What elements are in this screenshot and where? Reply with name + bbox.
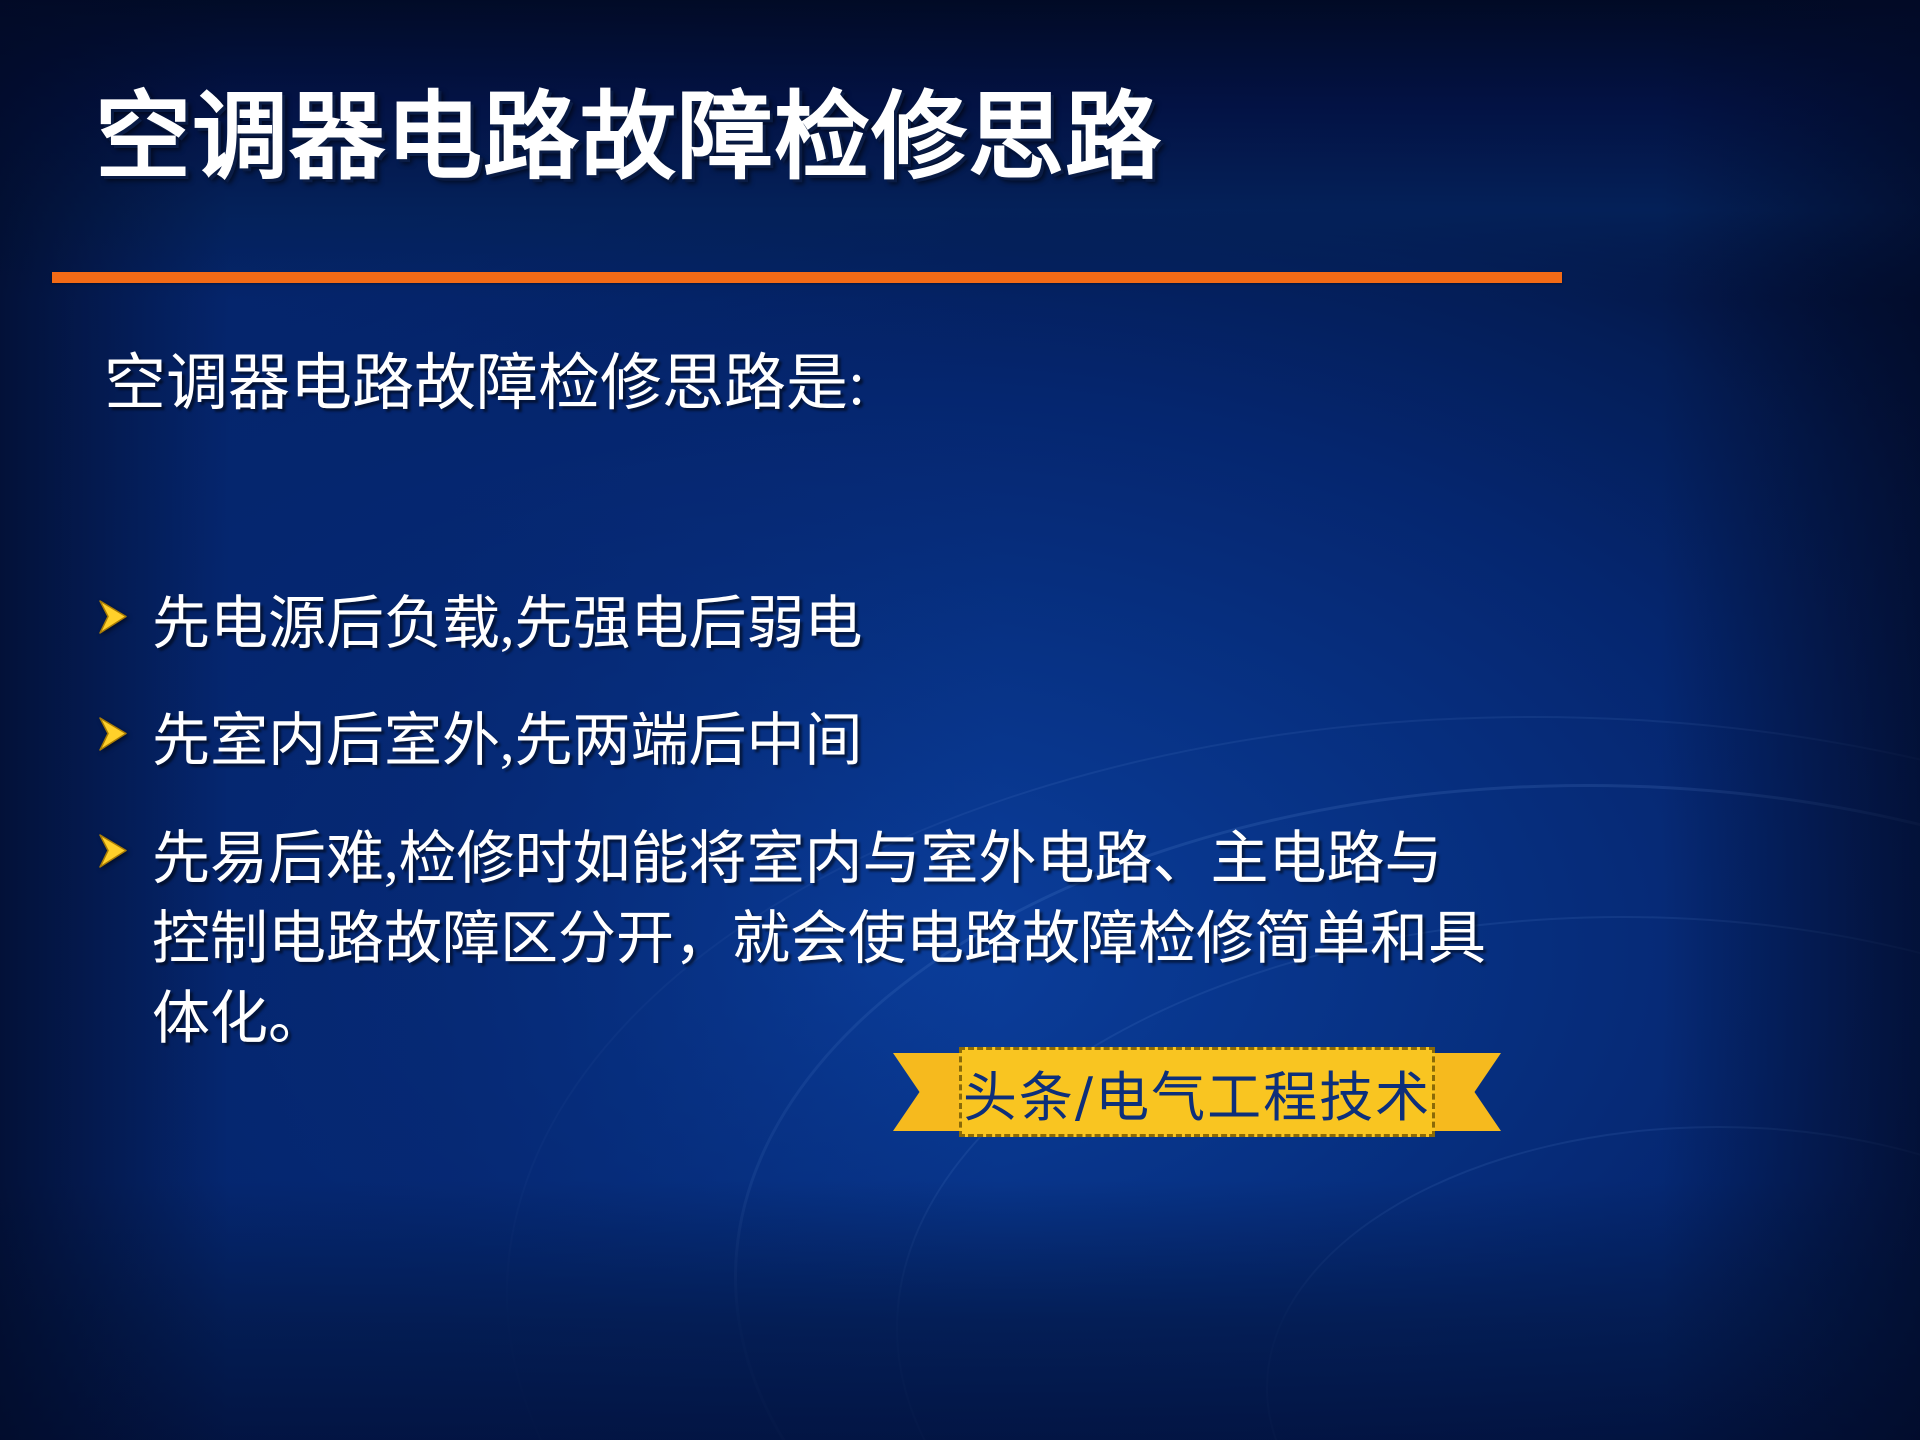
list-item-label: 先易后难,检修时如能将室内与室外电路、主电路与控制电路故障区分开，就会使电路故障…: [152, 819, 1496, 1059]
ribbon-plate: 头条/电气工程技术: [959, 1047, 1435, 1137]
list-item: 先室内后室外,先两端后中间: [96, 702, 1496, 779]
slide-title: 空调器电路故障检修思路: [95, 88, 1162, 189]
chevron-right-arrow-icon: [96, 819, 152, 871]
list-item-label: 先电源后负载,先强电后弱电: [152, 585, 1496, 662]
bullet-list: 先电源后负载,先强电后弱电 先室内后室外,先两端后中间 先易后难,检修时如能将室…: [96, 585, 1496, 1099]
chevron-right-arrow-icon: [96, 585, 152, 637]
list-item: 先电源后负载,先强电后弱电: [96, 585, 1496, 662]
ribbon-label: 头条/电气工程技术: [963, 1053, 1431, 1132]
chevron-right-arrow-icon: [96, 702, 152, 754]
slide-canvas: 空调器电路故障检修思路 空调器电路故障检修思路是: 先电源后负载,先强电后弱电 …: [0, 0, 1920, 1440]
background-bottom-vignette: [0, 1180, 1920, 1440]
list-item-label: 先室内后室外,先两端后中间: [152, 702, 1496, 779]
slide-subtitle: 空调器电路故障检修思路是:: [104, 350, 865, 418]
list-item: 先易后难,检修时如能将室内与室外电路、主电路与控制电路故障区分开，就会使电路故障…: [96, 819, 1496, 1059]
background-right-vignette: [1660, 0, 1920, 1440]
title-divider-rule: [52, 272, 1562, 283]
watermark-ribbon: 头条/电气工程技术: [893, 1047, 1501, 1137]
